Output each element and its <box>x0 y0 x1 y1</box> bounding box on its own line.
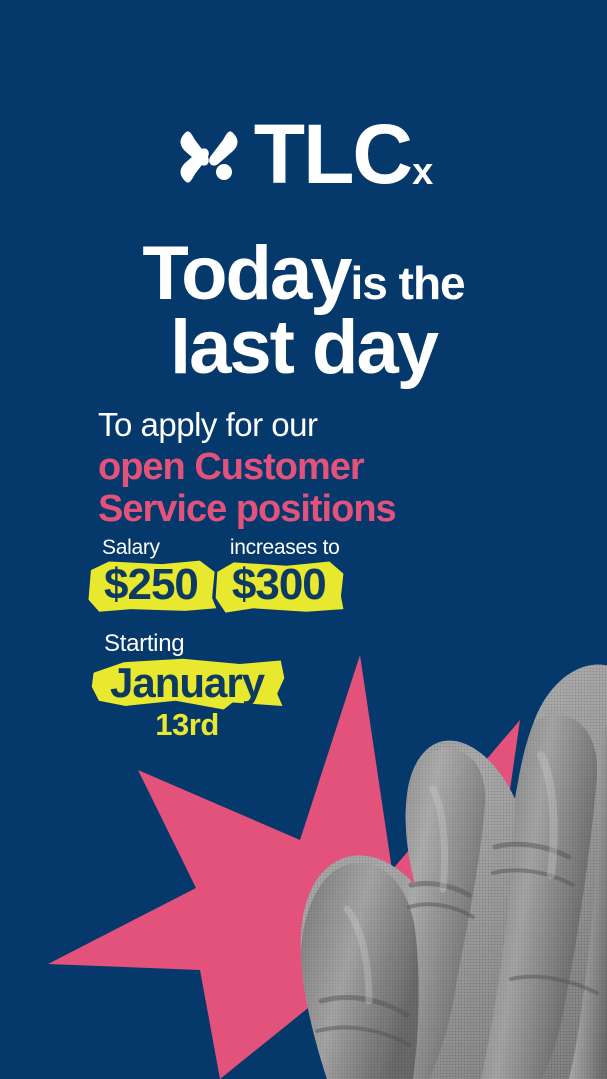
logo-wordmark-text: TLC <box>254 119 411 190</box>
start-month-highlight: January <box>100 660 274 706</box>
logo-subscript-x: x <box>412 153 431 191</box>
subhead-pink-line-2: Service positions <box>98 488 583 531</box>
headline-copy-block: Todayis the last day To apply for our op… <box>0 236 607 531</box>
salary-caption-left: Salary <box>96 536 206 560</box>
headline-is-the: is the <box>351 257 465 309</box>
logo-wordmark: TLC x <box>254 119 431 190</box>
brand-logo: TLC x <box>0 108 607 200</box>
salary-increase: increases to $300 <box>224 536 340 609</box>
salary-amount-right: $300 <box>224 561 334 609</box>
salary-amount-right-highlight: $300 <box>224 561 334 609</box>
salary-block: Salary $250 increases to $300 <box>96 536 340 609</box>
headline-line-2: last day <box>24 310 583 386</box>
x-petal-mark-icon <box>176 124 242 190</box>
subhead-pink-block: open Customer Service positions <box>24 446 583 531</box>
start-day: 13rd <box>100 707 274 743</box>
salary-amount-left: $250 <box>96 561 206 609</box>
headline-line-1: Todayis the <box>24 236 583 312</box>
start-caption: Starting <box>100 630 274 658</box>
salary-current: Salary $250 <box>96 536 206 609</box>
subhead-white-line: To apply for our <box>24 406 583 444</box>
clasped-hands-photo <box>283 649 607 1079</box>
salary-amount-left-highlight: $250 <box>96 561 206 609</box>
headline-today: Today <box>142 231 350 316</box>
subhead-pink-line-1: open Customer <box>98 446 583 489</box>
poster-canvas: TLC x Todayis the last day To apply for … <box>0 0 607 1079</box>
start-month: January <box>100 660 274 706</box>
start-date-block: Starting January 13rd <box>100 630 274 743</box>
salary-caption-right: increases to <box>224 536 340 560</box>
